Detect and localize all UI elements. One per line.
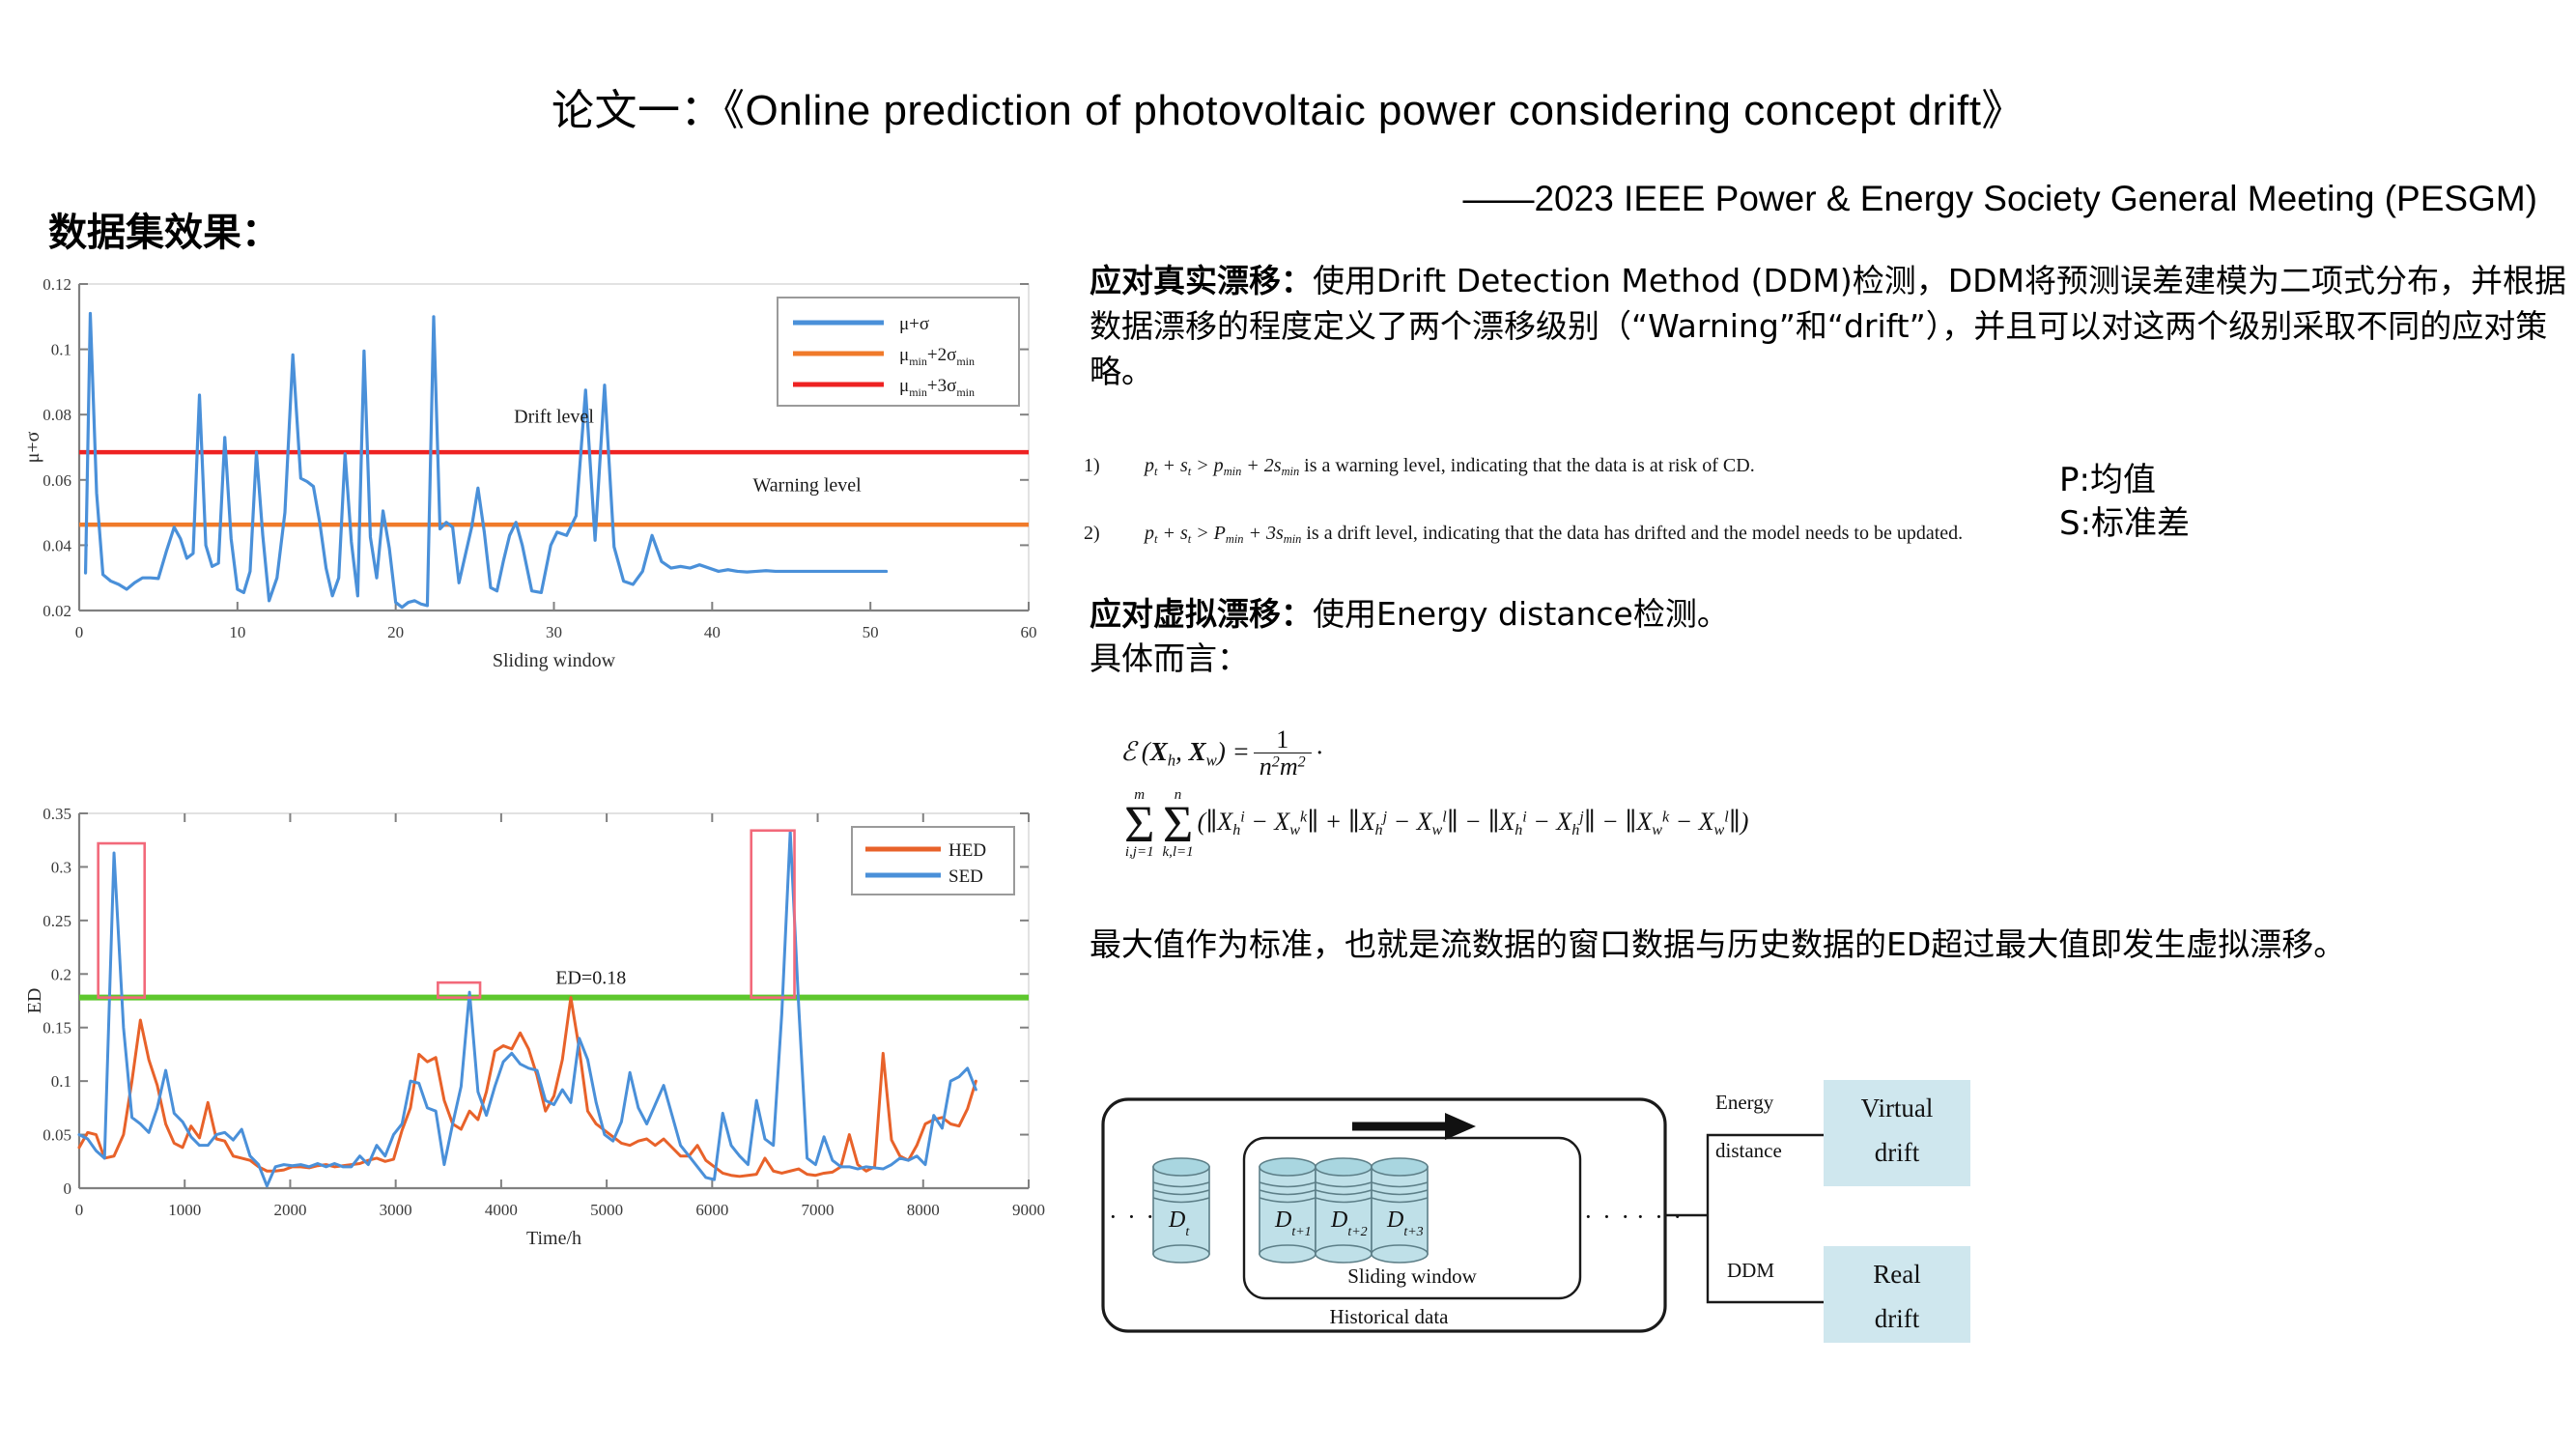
- real-drift-label-2: drift: [1875, 1304, 1920, 1333]
- virtual-drift-label-2: drift: [1875, 1138, 1920, 1167]
- x-tick-label: 30: [546, 623, 562, 641]
- formula-sum-1: m Σ i,j=1: [1124, 788, 1154, 860]
- energy-distance-label-1: Energy: [1715, 1091, 1774, 1114]
- virtual-drift-label: 应对虚拟漂移：: [1090, 595, 1313, 633]
- chart-sliding-window: 0.020.040.060.080.10.120102030405060Slid…: [19, 270, 1053, 671]
- formula-line-2: m Σ i,j=1 n Σ k,l=1 (∥Xhi − Xwk∥ + ∥Xhj …: [1120, 788, 2550, 860]
- x-axis-label: Time/h: [526, 1228, 581, 1249]
- data-cylinder-2: Dt+2: [1316, 1158, 1372, 1263]
- ellipsis-left: · · ·: [1109, 1203, 1156, 1231]
- ddm-label: DDM: [1727, 1259, 1774, 1282]
- x-tick-label: 2000: [273, 1201, 306, 1219]
- x-tick-label: 9000: [1012, 1201, 1045, 1219]
- sigma-icon: Σ: [1124, 803, 1154, 845]
- x-tick-label: 5000: [590, 1201, 623, 1219]
- drift-level-text: is a drift level, indicating that the da…: [1306, 523, 1963, 544]
- energy-distance-formula: ℰ (Xh, Xw) = 1 n2m2 · m Σ i,j=1 n Σ k,l=…: [1120, 726, 2550, 860]
- y-tick-label: 0.05: [42, 1126, 71, 1145]
- warning-level-index: 1): [1118, 452, 1140, 480]
- y-tick-label: 0.1: [51, 341, 71, 359]
- x-tick-label: 4000: [485, 1201, 518, 1219]
- page-title: 论文一：《Online prediction of photovoltaic p…: [0, 75, 2576, 137]
- formula-dot: ·: [1316, 738, 1324, 768]
- formula-line-1: ℰ (Xh, Xw) = 1 n2m2 ·: [1120, 726, 2550, 781]
- dataset-result-heading: 数据集效果：: [48, 201, 280, 257]
- y-tick-label: 0.2: [51, 965, 71, 983]
- legend-label-0: μ+σ: [899, 314, 929, 334]
- ellipsis-right: · · ·: [1636, 1203, 1684, 1231]
- y-axis-label: ED: [24, 988, 45, 1014]
- y-tick-label: 0.12: [42, 275, 71, 294]
- page-title-en: 《Online prediction of photovoltaic power…: [723, 87, 2024, 134]
- formula-denominator: n2m2: [1254, 753, 1312, 780]
- virtual-drift-body: 使用Energy distance检测。: [1313, 595, 1729, 633]
- chart-legend: HEDSED: [852, 827, 1014, 895]
- virtual-drift-label-1: Virtual: [1861, 1094, 1934, 1122]
- y-tick-label: 0.1: [51, 1072, 71, 1091]
- formula-fraction: 1 n2m2: [1254, 726, 1312, 781]
- y-tick-label: 0: [64, 1179, 72, 1198]
- drift-level-note: 2) pt + st > Pmin + 3smin is a drift lev…: [1118, 520, 2084, 549]
- formula-sum-1-bottom: i,j=1: [1125, 845, 1154, 860]
- y-axis-label: μ+σ: [22, 431, 43, 463]
- x-tick-label: 40: [704, 623, 721, 641]
- symbol-legend-s: S:标准差: [2059, 502, 2190, 546]
- symbol-legend: P:均值 S:标准差: [2059, 459, 2190, 546]
- data-cylinder-0: Dt: [1153, 1158, 1209, 1263]
- drift-level-formula: pt + st > Pmin + 3smin: [1145, 523, 1301, 544]
- warning-level-formula: pt + st > pmin + 2smin: [1145, 455, 1299, 476]
- chart-legend: μ+σμmin+2σminμmin+3σmin: [778, 298, 1019, 406]
- chart-energy-distance: 00.050.10.150.20.250.30.3501000200030004…: [19, 800, 1053, 1249]
- formula-numerator: 1: [1270, 726, 1294, 753]
- warning-level-note: 1) pt + st > pmin + 2smin is a warning l…: [1118, 452, 2084, 481]
- chart-sliding-window-svg: 0.020.040.060.080.10.120102030405060Slid…: [19, 270, 1053, 671]
- x-tick-label: 7000: [802, 1201, 835, 1219]
- x-tick-label: 20: [387, 623, 404, 641]
- annotation-drift-level: Drift level: [514, 407, 594, 428]
- sigma-icon: Σ: [1163, 803, 1193, 845]
- x-axis-label: Sliding window: [493, 650, 616, 671]
- flow-arrow-head: [1445, 1113, 1476, 1140]
- chart-energy-distance-svg: 00.050.10.150.20.250.30.3501000200030004…: [19, 800, 1053, 1249]
- virtual-drift-paragraph: 应对虚拟漂移：使用Energy distance检测。 具体而言：: [1090, 592, 2567, 681]
- legend-label-1: SED: [948, 867, 983, 887]
- data-cylinder-3: Dt+3: [1372, 1158, 1428, 1263]
- y-tick-label: 0.04: [42, 536, 71, 554]
- y-tick-label: 0.25: [42, 912, 71, 930]
- x-tick-label: 0: [75, 1201, 84, 1219]
- historical-data-label: Historical data: [1329, 1305, 1449, 1328]
- x-tick-label: 3000: [380, 1201, 412, 1219]
- warning-level-text: is a warning level, indicating that the …: [1304, 455, 1755, 476]
- x-tick-label: 6000: [695, 1201, 728, 1219]
- x-tick-label: 60: [1021, 623, 1037, 641]
- page-title-cn: 论文一：: [552, 86, 723, 135]
- conclusion-paragraph: 最大值作为标准，也就是流数据的窗口数据与历史数据的ED超过最大值即发生虚拟漂移。: [1090, 923, 2567, 968]
- ellipsis-mid: · · ·: [1584, 1203, 1631, 1231]
- drift-level-index: 2): [1118, 520, 1140, 548]
- y-tick-label: 0.35: [42, 805, 71, 823]
- x-tick-label: 8000: [907, 1201, 940, 1219]
- real-drift-label-1: Real: [1873, 1260, 1920, 1289]
- symbol-legend-p: P:均值: [2059, 459, 2190, 502]
- legend-label-0: HED: [948, 840, 986, 861]
- formula-sum-2-bottom: k,l=1: [1162, 845, 1193, 860]
- threshold-label: ED=0.18: [555, 968, 626, 989]
- annotation-warning-level: Warning level: [753, 475, 863, 497]
- drift-detection-diagram-svg: DtDt+1Dt+2Dt+3· · ·· · ·· · ·Sliding win…: [1090, 1053, 2142, 1343]
- x-tick-label: 10: [229, 623, 245, 641]
- drift-detection-diagram: DtDt+1Dt+2Dt+3· · ·· · ·· · ·Sliding win…: [1090, 1053, 2142, 1343]
- x-tick-label: 50: [863, 623, 879, 641]
- formula-body: (∥Xhi − Xwk∥ + ∥Xhj − Xwl∥ − ∥Xhi − Xhj∥…: [1198, 808, 1749, 839]
- real-drift-label: 应对真实漂移：: [1090, 262, 1313, 299]
- x-tick-label: 0: [75, 623, 84, 641]
- y-tick-label: 0.15: [42, 1019, 71, 1037]
- formula-lhs: ℰ (Xh, Xw) =: [1120, 737, 1250, 770]
- y-tick-label: 0.06: [42, 471, 71, 490]
- y-tick-label: 0.3: [51, 858, 71, 876]
- y-tick-label: 0.08: [42, 406, 71, 424]
- formula-sum-2: n Σ k,l=1: [1162, 788, 1193, 860]
- sliding-window-label: Sliding window: [1347, 1264, 1477, 1288]
- data-cylinder-1: Dt+1: [1260, 1158, 1316, 1263]
- virtual-drift-line2: 具体而言：: [1090, 637, 2567, 681]
- real-drift-paragraph: 应对真实漂移：使用Drift Detection Method (DDM)检测，…: [1090, 259, 2567, 395]
- venue-line: ——2023 IEEE Power & Energy Society Gener…: [1462, 179, 2537, 219]
- x-tick-label: 1000: [168, 1201, 201, 1219]
- y-tick-label: 0.02: [42, 602, 71, 620]
- energy-distance-label-2: distance: [1715, 1139, 1782, 1162]
